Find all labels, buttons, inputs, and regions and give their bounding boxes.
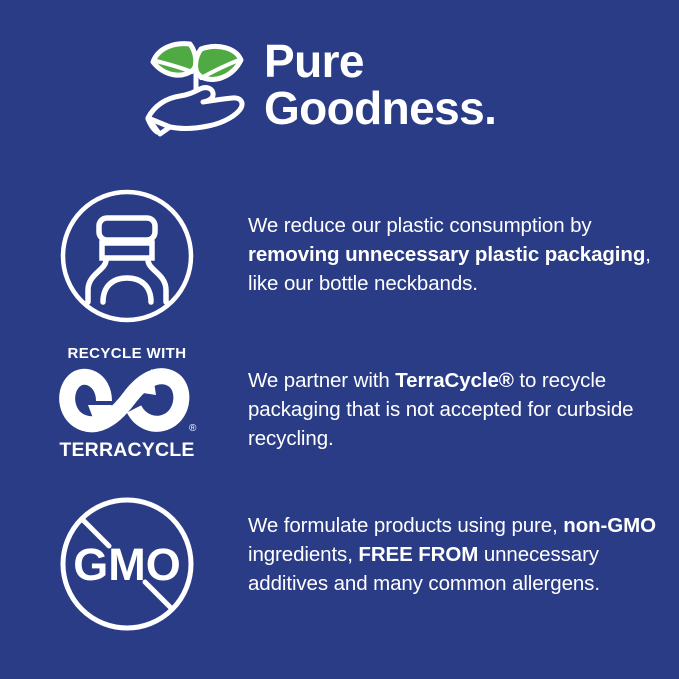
title-line-2: Goodness.: [264, 85, 496, 132]
gmo-label: GMO: [73, 539, 181, 590]
bottle-neckband-circle-icon: [57, 186, 197, 326]
text-part-bold: FREE FROM: [358, 543, 478, 566]
text-cell-1: We reduce our plastic consumption by rem…: [248, 186, 679, 298]
terracycle-bottom-label: TERRACYCLE: [59, 439, 194, 462]
feature-row-terracycle: RECYCLE WITH ® TERRACYCLE We partner wit…: [0, 345, 679, 462]
feature-text-1: We reduce our plastic consumption by rem…: [248, 211, 665, 298]
header: Pure Goodness.: [0, 26, 679, 156]
text-cell-3: We formulate products using pure, non-GM…: [248, 494, 679, 598]
terracycle-top-label: RECYCLE WITH: [68, 345, 187, 362]
feature-text-2: We partner with TerraCycle® to recycle p…: [248, 366, 665, 453]
feature-row-non-gmo: GMO We formulate products using pure, no…: [0, 494, 679, 634]
feature-text-3: We formulate products using pure, non-GM…: [248, 511, 665, 598]
poster-background: Pure Goodness.: [0, 0, 679, 679]
icon-cell-3: GMO: [0, 494, 248, 634]
terracycle-recycle-badge-icon: RECYCLE WITH ® TERRACYCLE: [56, 345, 198, 462]
registered-mark: ®: [189, 423, 197, 434]
text-part-bold: TerraCycle®: [395, 369, 513, 392]
text-part: We formulate products using pure,: [248, 514, 563, 537]
text-part: We reduce our plastic consumption by: [248, 214, 592, 237]
text-cell-2: We partner with TerraCycle® to recycle p…: [248, 345, 679, 453]
text-part: We partner with: [248, 369, 395, 392]
page-title: Pure Goodness.: [264, 26, 496, 132]
feature-row-plastic-reduction: We reduce our plastic consumption by rem…: [0, 186, 679, 326]
title-line-1: Pure: [264, 35, 364, 87]
text-part-bold: removing unnecessary plastic packaging: [248, 243, 645, 266]
text-part: ingredients,: [248, 543, 358, 566]
icon-cell-2: RECYCLE WITH ® TERRACYCLE: [0, 345, 248, 462]
no-gmo-circle-icon: GMO: [57, 494, 197, 634]
icon-cell-1: [0, 186, 248, 326]
hand-holding-plant-icon: [144, 32, 252, 136]
text-part-bold: non-GMO: [563, 514, 656, 537]
